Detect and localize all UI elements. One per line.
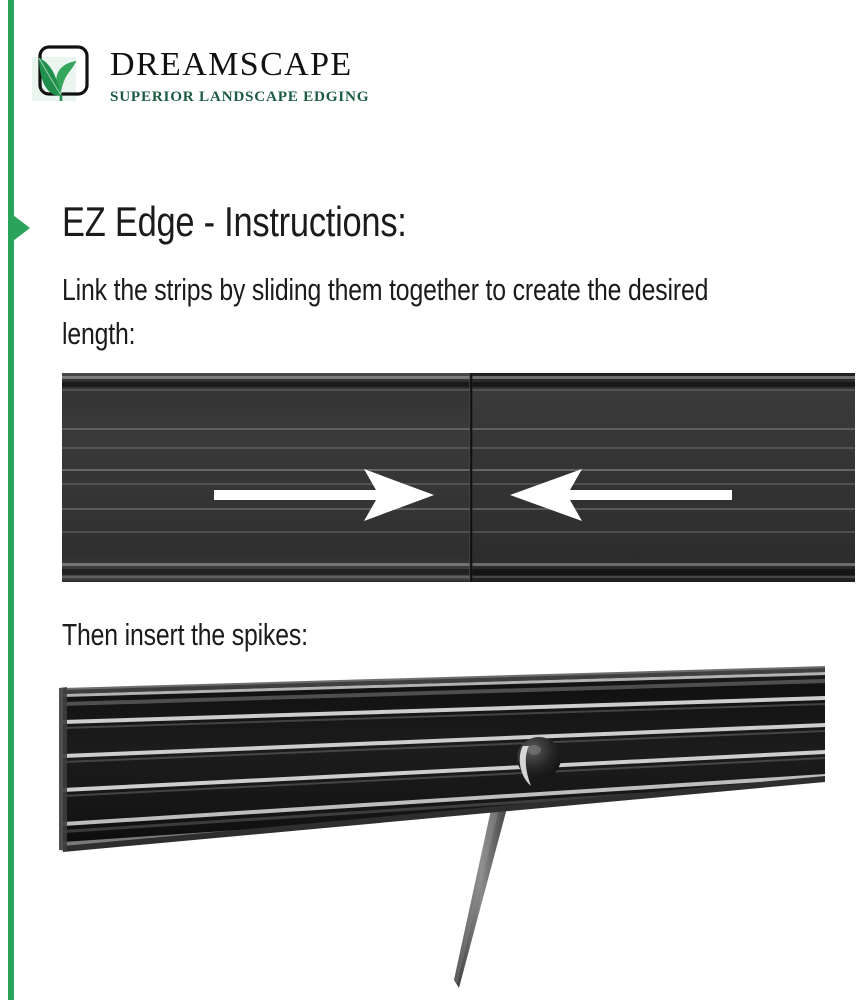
edging-strip-with-spike-photo (45, 650, 850, 990)
brand-tagline: SUPERIOR LANDSCAPE EDGING (110, 89, 369, 104)
step-2-instruction-text: Then insert the spikes: (62, 617, 308, 653)
page-title: EZ Edge - Instructions: (62, 198, 407, 246)
two-leaves-in-rounded-square-icon (30, 43, 94, 107)
two-edging-strips-sliding-together-photo (62, 373, 855, 582)
strip-seam-joint (469, 373, 473, 582)
edging-strip-right (471, 373, 855, 582)
green-arrow-bullet-icon (13, 215, 30, 241)
left-green-rail (8, 0, 14, 1000)
step-1-instruction-text: Link the strips by sliding them together… (62, 268, 766, 356)
brand-name: DREAMSCAPE (110, 48, 369, 82)
brand-logo-text: DREAMSCAPE SUPERIOR LANDSCAPE EDGING (110, 46, 369, 104)
brand-logo: DREAMSCAPE SUPERIOR LANDSCAPE EDGING (30, 40, 369, 110)
instruction-sheet-page: DREAMSCAPE SUPERIOR LANDSCAPE EDGING EZ … (0, 0, 865, 1000)
strip-left-cap (59, 687, 67, 851)
edging-strip-left (62, 373, 471, 582)
